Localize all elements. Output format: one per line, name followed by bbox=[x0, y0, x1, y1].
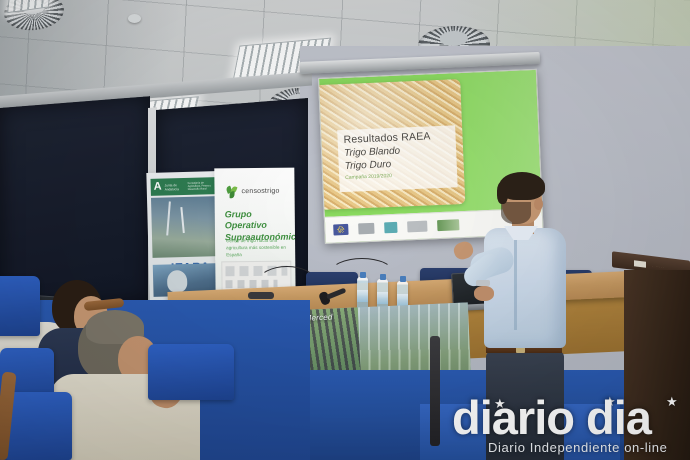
banner-headline-line1: Grupo Operativo bbox=[225, 209, 291, 232]
slide-line-3: Trigo Duro bbox=[344, 157, 431, 172]
smoke-detector-icon bbox=[128, 14, 141, 23]
junta-andalucia-header: A Junta de Andalucía Consejería de Agric… bbox=[150, 177, 216, 196]
leaf-icon bbox=[226, 186, 238, 197]
inia-logo-icon bbox=[384, 222, 397, 234]
slide-line-2: Trigo Blando bbox=[344, 144, 431, 159]
cable-bundle bbox=[430, 336, 440, 446]
presenter-beard bbox=[501, 202, 531, 224]
presenter-shirt bbox=[484, 228, 566, 348]
audience-chair[interactable] bbox=[0, 276, 40, 336]
eu-flag-logo-icon bbox=[333, 224, 348, 236]
banner-subtitle: Censo de trigo hacia una agricultura más… bbox=[226, 238, 286, 259]
lectern-body bbox=[624, 270, 690, 460]
slide-text-block: Resultados RAEA Trigo Blando Trigo Duro … bbox=[343, 130, 432, 181]
presenter-shirt-placket bbox=[514, 234, 517, 330]
junta-org-name: Junta de Andalucía bbox=[165, 182, 185, 191]
banner-ifapa: A Junta de Andalucía Consejería de Agric… bbox=[146, 171, 223, 301]
ministry-logo-icon bbox=[358, 223, 374, 235]
partner-logo-icon bbox=[407, 221, 427, 233]
slide-title: Resultados RAEA bbox=[343, 130, 430, 146]
microphone-gooseneck bbox=[330, 258, 394, 288]
presenter-ear bbox=[534, 198, 543, 210]
audience-chair[interactable] bbox=[148, 344, 234, 400]
presenter-hand-lower bbox=[474, 286, 494, 301]
junta-andalucia-logo-icon bbox=[437, 219, 459, 231]
junta-initial: A bbox=[154, 182, 162, 193]
censostrigo-brand: censostrigo bbox=[242, 188, 280, 195]
presenter-trousers bbox=[486, 351, 564, 460]
junta-dept-name: Consejería de Agricultura, Pesca y Desar… bbox=[188, 181, 214, 191]
lectern[interactable]: · ····· bbox=[612, 256, 690, 460]
audience-chair[interactable] bbox=[6, 392, 72, 460]
censostrigo-logo: censostrigo bbox=[226, 186, 279, 198]
ifapa-banner-photo-top bbox=[151, 196, 219, 258]
photo-scene: Resultados RAEA Trigo Blando Trigo Duro … bbox=[0, 0, 690, 460]
presenter-hair bbox=[499, 172, 545, 200]
presenter-person bbox=[468, 176, 588, 460]
